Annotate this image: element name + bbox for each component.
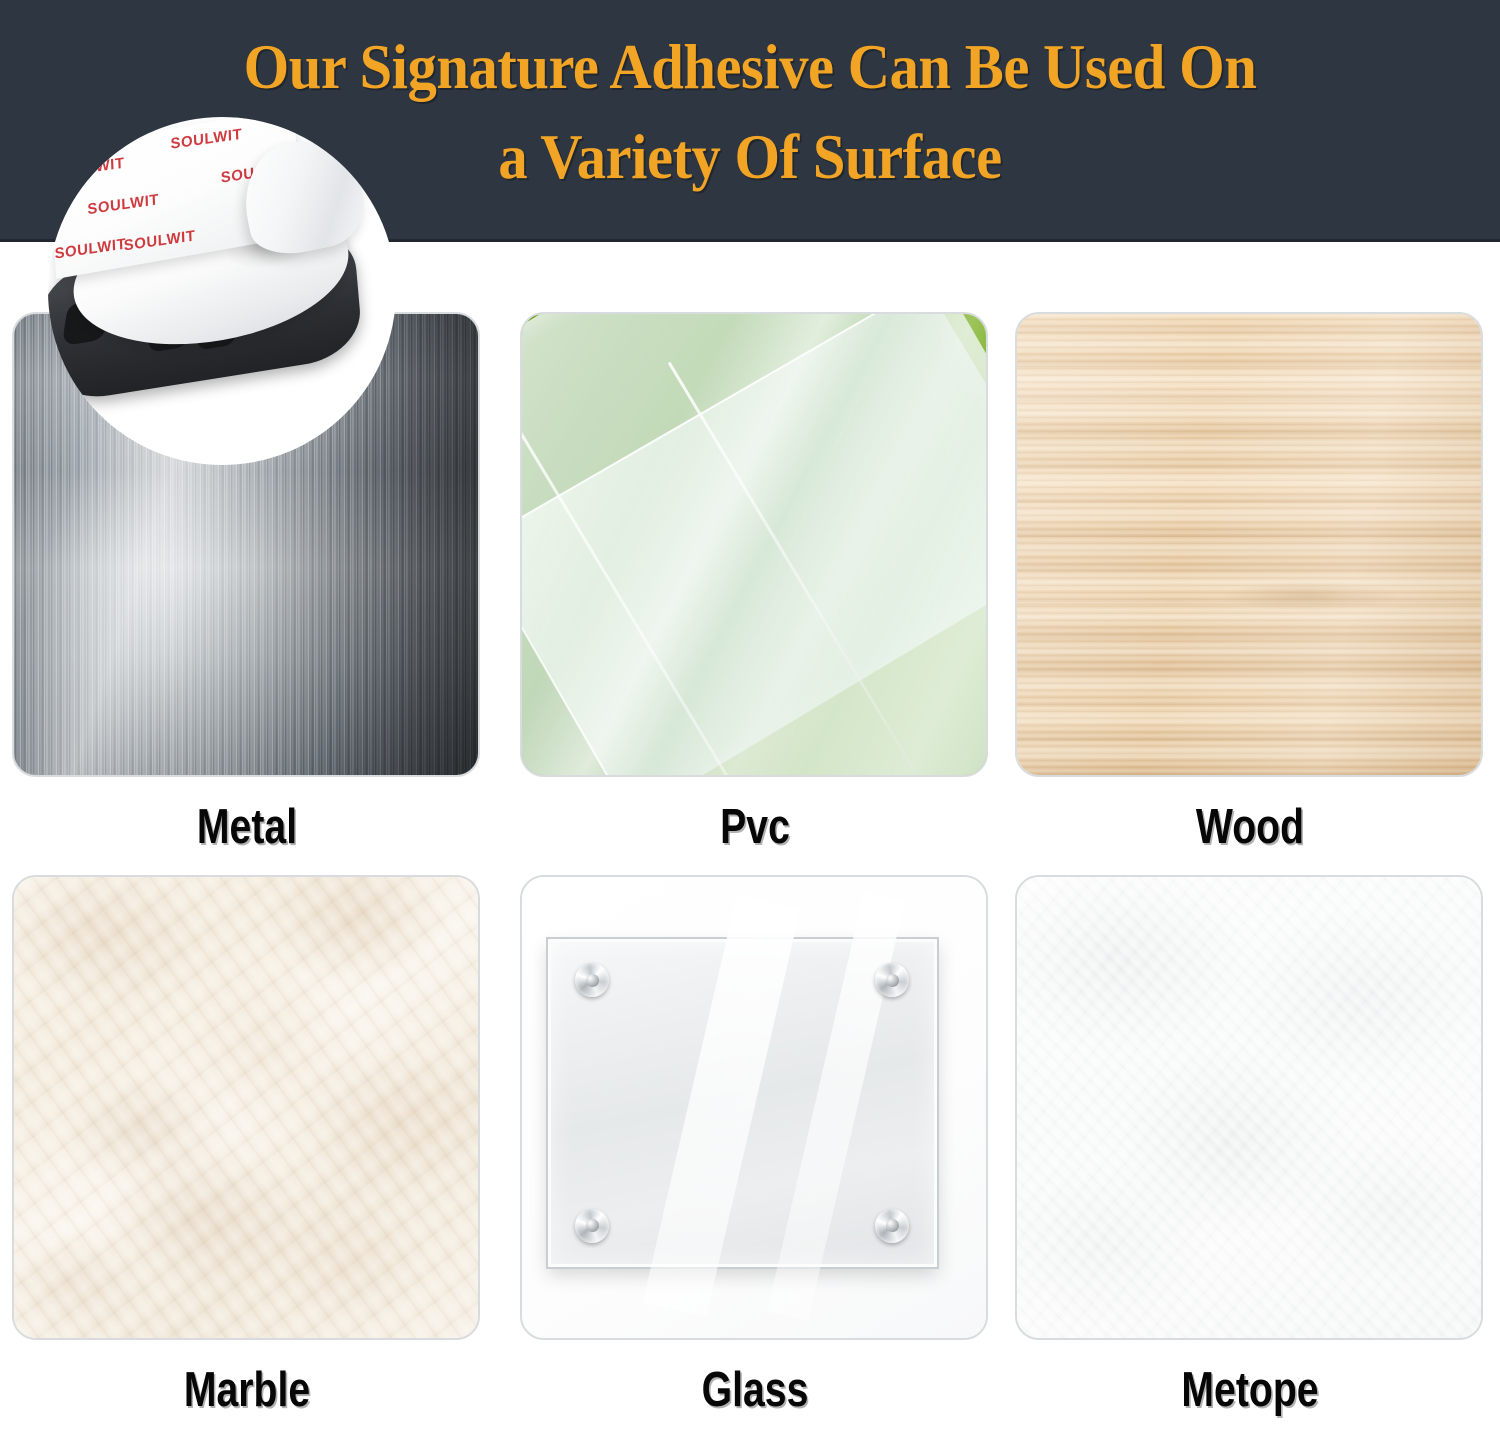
surface-label-wood: Wood [1062,799,1438,855]
standoff-screw-icon [875,963,909,997]
wood-sheen-overlay [1017,314,1481,775]
surface-label-metal: Metal [59,799,435,855]
brand-text: SOULWIT [54,235,126,262]
surface-swatch-wood [1015,312,1483,777]
pvc-gloss-overlay [522,314,986,775]
standoff-screw-icon [875,1209,909,1243]
glass-reflection [643,895,801,1317]
brand-text: SOULWIT [124,227,196,254]
plaster-grain-overlay [1017,877,1481,1338]
surface-cell-wood: Wood [1015,312,1485,855]
marble-vein-overlay [14,877,478,1338]
product-closeup-circle: SOULWIT SOULWIT SOULWIT SOULWIT SOULWIT … [48,117,396,465]
surface-label-glass: Glass [567,1362,943,1418]
brand-text: SOULWIT [53,154,125,181]
surface-swatch-marble [12,875,480,1340]
brand-text: SOULWIT [170,126,242,153]
surface-cell-pvc: Pvc [520,312,990,855]
product-closeup-stage: SOULWIT SOULWIT SOULWIT SOULWIT SOULWIT … [48,117,396,465]
surface-swatch-pvc [520,312,988,777]
standoff-screw-icon [575,963,609,997]
standoff-screw-icon [575,1209,609,1243]
brand-text: SOULWIT [87,191,159,218]
glass-panel [548,939,938,1266]
surface-cell-metope: Metope [1015,875,1485,1418]
surface-swatch-metope [1015,875,1483,1340]
surface-label-pvc: Pvc [567,799,943,855]
surface-label-marble: Marble [59,1362,435,1418]
surface-label-metope: Metope [1062,1362,1438,1418]
surface-swatch-glass [520,875,988,1340]
surface-cell-marble: Marble [12,875,482,1418]
surface-cell-glass: Glass [520,875,990,1418]
